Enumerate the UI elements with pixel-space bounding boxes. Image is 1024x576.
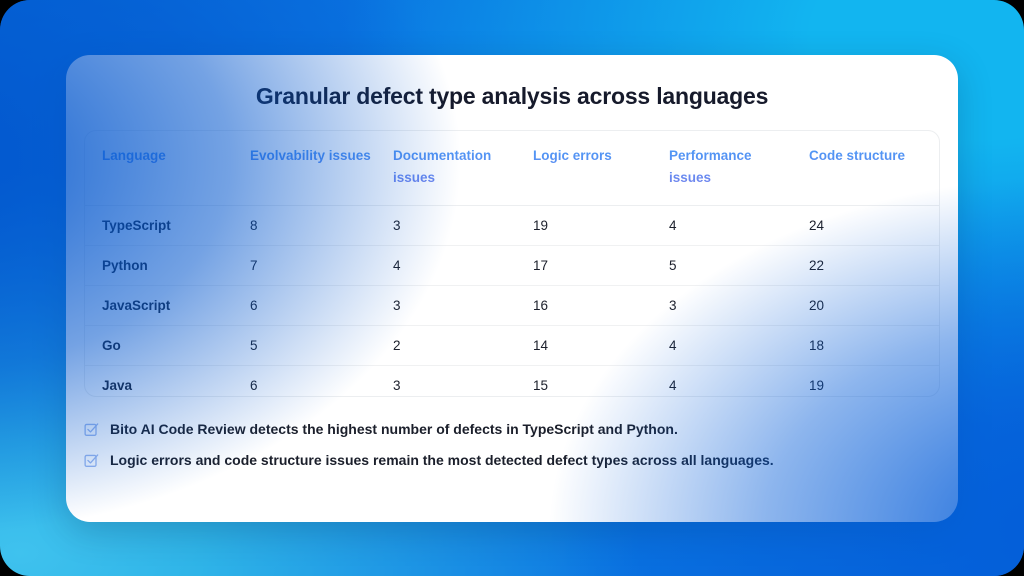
cell-logic: 19: [516, 206, 652, 246]
cell-language: TypeScript: [85, 206, 233, 246]
defect-table: Language Evolvability issues Documentati…: [85, 131, 939, 405]
cell-performance: 4: [652, 206, 792, 246]
column-header-performance: Performance issues: [652, 131, 792, 206]
table-row: Python 7 4 17 5 22: [85, 246, 939, 286]
table-header: Language Evolvability issues Documentati…: [85, 131, 939, 206]
cell-logic: 16: [516, 286, 652, 326]
column-header-documentation: Documentation issues: [376, 131, 516, 206]
cell-documentation: 2: [376, 326, 516, 366]
table-row: Java 6 3 15 4 19: [85, 366, 939, 406]
table-row: Go 5 2 14 4 18: [85, 326, 939, 366]
cell-language: JavaScript: [85, 286, 233, 326]
defect-table-panel: Language Evolvability issues Documentati…: [84, 130, 940, 397]
table-body: TypeScript 8 3 19 4 24 Python 7 4 17 5 2…: [85, 206, 939, 406]
list-item: Logic errors and code structure issues r…: [84, 451, 944, 469]
cell-performance: 3: [652, 286, 792, 326]
cell-structure: 19: [792, 366, 939, 406]
cell-evolvability: 6: [233, 366, 376, 406]
cell-evolvability: 8: [233, 206, 376, 246]
column-header-evolvability: Evolvability issues: [233, 131, 376, 206]
list-item-label: Logic errors and code structure issues r…: [110, 451, 774, 469]
content-card: Granular defect type analysis across lan…: [66, 55, 958, 522]
checkbox-check-icon: [84, 422, 99, 437]
checkbox-check-icon: [84, 453, 99, 468]
cell-logic: 15: [516, 366, 652, 406]
cell-structure: 22: [792, 246, 939, 286]
list-item-label: Bito AI Code Review detects the highest …: [110, 420, 678, 438]
cell-evolvability: 6: [233, 286, 376, 326]
cell-performance: 4: [652, 326, 792, 366]
table-row: JavaScript 6 3 16 3 20: [85, 286, 939, 326]
cell-performance: 4: [652, 366, 792, 406]
page-title: Granular defect type analysis across lan…: [66, 83, 958, 110]
cell-documentation: 3: [376, 206, 516, 246]
column-header-logic: Logic errors: [516, 131, 652, 206]
cell-language: Java: [85, 366, 233, 406]
cell-documentation: 3: [376, 366, 516, 406]
table-row: TypeScript 8 3 19 4 24: [85, 206, 939, 246]
cell-logic: 17: [516, 246, 652, 286]
gradient-backdrop: Granular defect type analysis across lan…: [0, 0, 1024, 576]
column-header-language: Language: [85, 131, 233, 206]
cell-structure: 24: [792, 206, 939, 246]
cell-evolvability: 5: [233, 326, 376, 366]
table-header-row: Language Evolvability issues Documentati…: [85, 131, 939, 206]
list-item: Bito AI Code Review detects the highest …: [84, 420, 944, 438]
cell-performance: 5: [652, 246, 792, 286]
cell-language: Python: [85, 246, 233, 286]
cell-documentation: 4: [376, 246, 516, 286]
insight-list: Bito AI Code Review detects the highest …: [84, 420, 944, 482]
column-header-code-structure: Code structure: [792, 131, 939, 206]
cell-evolvability: 7: [233, 246, 376, 286]
cell-language: Go: [85, 326, 233, 366]
cell-logic: 14: [516, 326, 652, 366]
cell-documentation: 3: [376, 286, 516, 326]
cell-structure: 20: [792, 286, 939, 326]
cell-structure: 18: [792, 326, 939, 366]
